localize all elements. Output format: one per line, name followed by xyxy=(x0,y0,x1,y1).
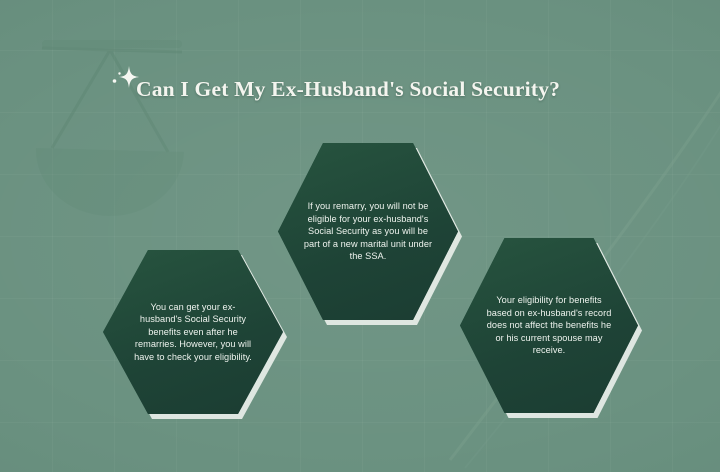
hexagon-text-center: If you remarry, you will not be eligible… xyxy=(302,200,435,263)
page-title: Can I Get My Ex-Husband's Social Securit… xyxy=(136,76,560,102)
hexagon-card-right[interactable]: Your eligibility for benefits based on e… xyxy=(460,238,638,413)
sparkle-icon xyxy=(108,62,142,96)
hexagon-text-left: You can get your ex-husband's Social Sec… xyxy=(131,301,256,364)
hexagon-text-right: Your eligibility for benefits based on e… xyxy=(486,294,612,357)
hexagon-card-center[interactable]: If you remarry, you will not be eligible… xyxy=(278,143,458,320)
hexagon-card-left[interactable]: You can get your ex-husband's Social Sec… xyxy=(103,250,283,414)
infographic-canvas: Can I Get My Ex-Husband's Social Securit… xyxy=(0,0,720,472)
title-row: Can I Get My Ex-Husband's Social Securit… xyxy=(108,76,560,102)
